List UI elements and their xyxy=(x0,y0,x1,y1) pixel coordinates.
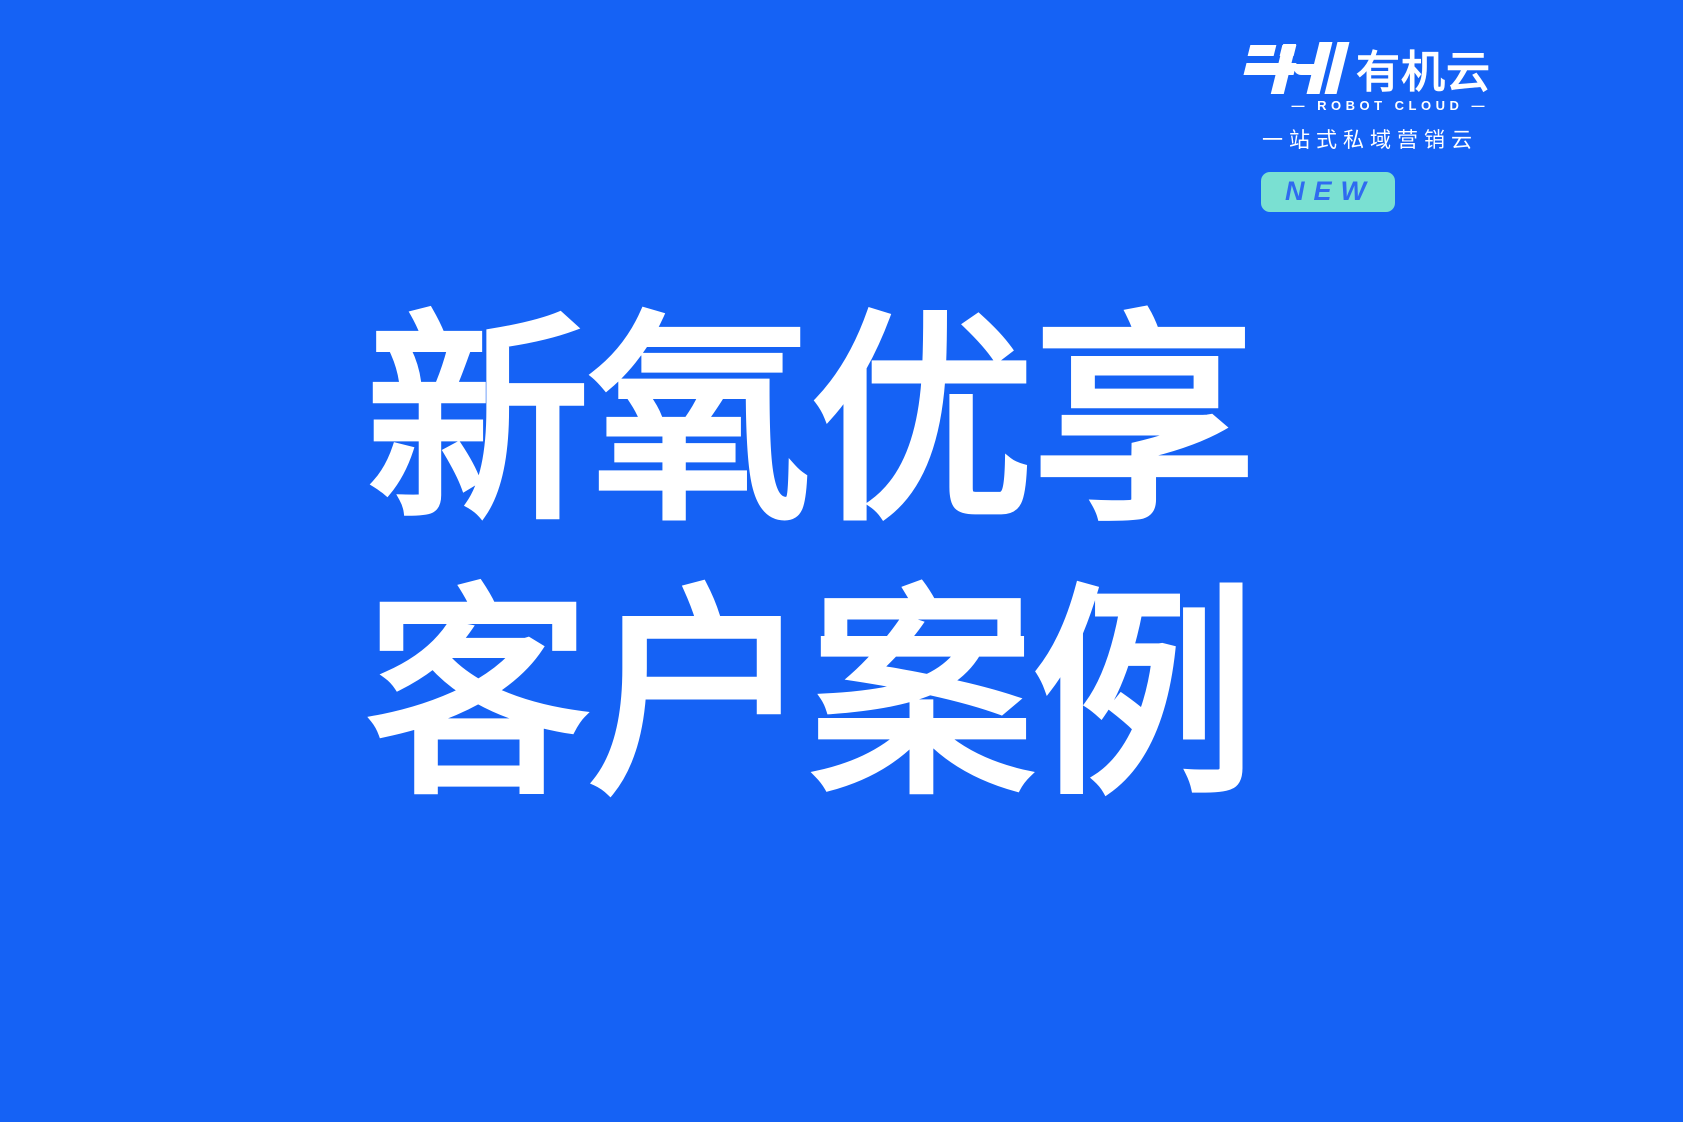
poster-canvas: 有机云 — ROBOT CLOUD — 一站式私域营销云 NEW 新氧优享 客户… xyxy=(0,0,1683,1122)
new-badge: NEW xyxy=(1261,172,1395,212)
brand-lockup: 有机云 — ROBOT CLOUD — 一站式私域营销云 xyxy=(1243,36,1491,154)
brand-name-cn: 有机云 xyxy=(1356,52,1491,94)
new-badge-container: NEW xyxy=(1261,172,1395,212)
brand-name-en: — ROBOT CLOUD — xyxy=(1292,98,1492,113)
brand-logo-row: 有机云 xyxy=(1243,36,1491,94)
page-title-line-1: 新氧优享 xyxy=(366,292,1254,552)
page-title-line-2: 客户案例 xyxy=(366,566,1254,826)
brand-tagline: 一站式私域营销云 xyxy=(1256,124,1478,154)
robot-cloud-mark-icon xyxy=(1243,38,1347,94)
page-title: 新氧优享 客户案例 xyxy=(366,292,1254,826)
